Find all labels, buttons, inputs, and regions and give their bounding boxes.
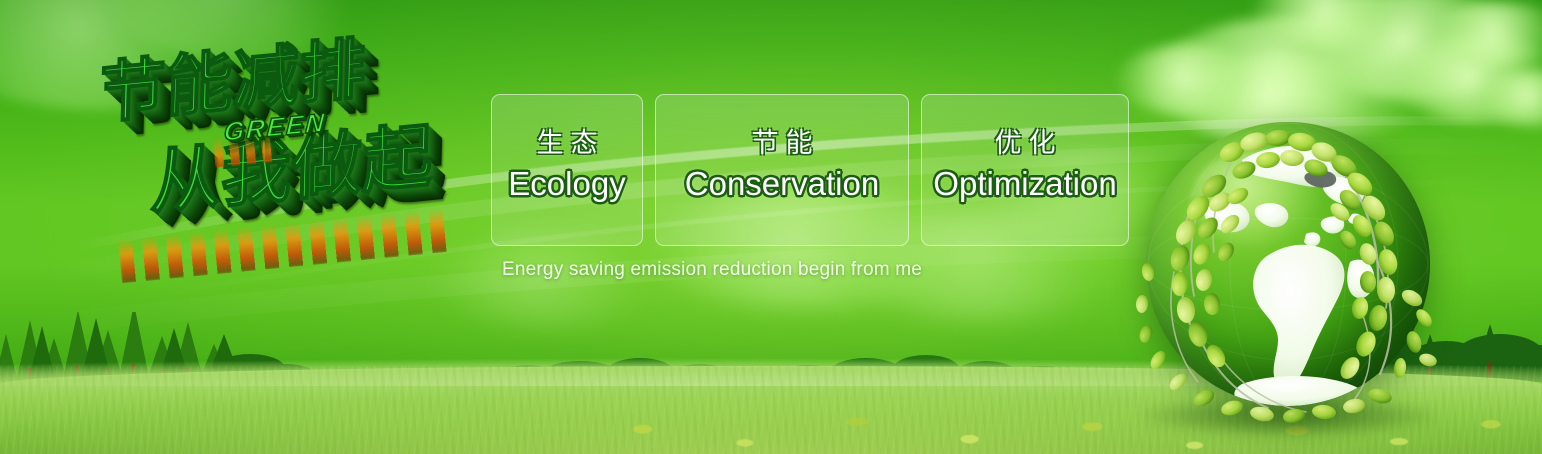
- feature-card-title-en: Conservation: [685, 165, 879, 203]
- feature-card-group: 生态 Ecology 节能 Conservation 优化 Optimizati…: [491, 94, 1129, 246]
- cloud-shape: [1430, 2, 1542, 68]
- tagline-text: Energy saving emission reduction begin f…: [502, 259, 922, 281]
- cloud-shape: [1478, 70, 1542, 126]
- logo-line-1: 节能减排: [99, 35, 368, 127]
- feature-card-ecology[interactable]: 生态 Ecology: [491, 94, 643, 246]
- globe-sphere: [1146, 122, 1430, 406]
- feature-card-optimization[interactable]: 优化 Optimization: [921, 94, 1129, 246]
- feature-card-title-cn: 优化: [988, 121, 1063, 160]
- feature-card-conservation[interactable]: 节能 Conservation: [655, 94, 909, 246]
- feature-card-title-cn: 生态: [530, 121, 605, 160]
- cloud-shape: [1252, 0, 1412, 48]
- cloud-shape: [1392, 36, 1542, 122]
- eco-banner: 节能减排 GREEN 从我做起 生态 Ecology 节能 Conservati…: [0, 0, 1542, 454]
- cloud-shape: [1290, 0, 1540, 100]
- feature-card-title-cn: 节能: [745, 121, 820, 160]
- feature-card-title-en: Ecology: [508, 165, 625, 203]
- cloud-shape: [430, 236, 670, 326]
- cloud-shape: [1116, 44, 1266, 116]
- globe-continents: [1146, 122, 1430, 406]
- feature-card-title-en: Optimization: [933, 165, 1116, 203]
- headline-logo: 节能减排 GREEN 从我做起: [86, 15, 506, 282]
- leafy-earth-globe: [1128, 112, 1448, 442]
